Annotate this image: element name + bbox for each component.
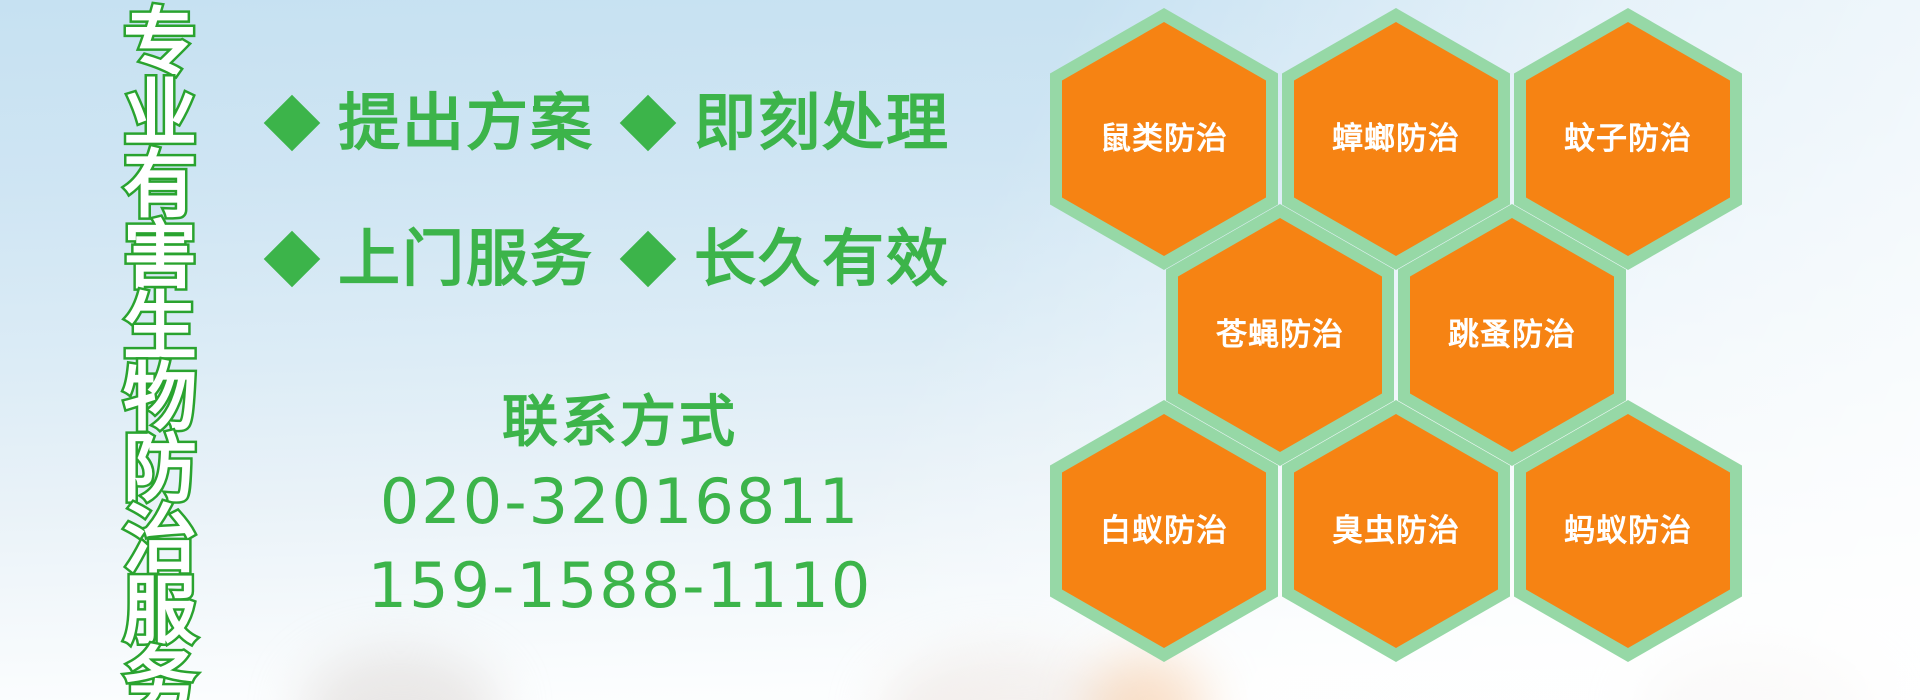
service-label: 苍蝇防治 <box>1216 320 1344 351</box>
service-label: 蚊子防治 <box>1564 124 1692 155</box>
contact-block: 联系方式 020-32016811 159-1588-1110 <box>300 390 940 623</box>
vertical-title-char: 有 <box>123 150 197 221</box>
diamond-bullet-icon <box>264 95 321 152</box>
contact-phone-mobile[interactable]: 159-1588-1110 <box>300 548 940 624</box>
vertical-title-char: 防 <box>123 434 197 505</box>
service-honeycomb: 鼠类防治 蟑螂防治 蚊子防治 苍蝇防治 跳蚤防治 白蚁防治 臭虫防治 <box>1050 0 1850 700</box>
contact-phone-landline[interactable]: 020-32016811 <box>300 464 940 540</box>
feature-row-1: 提出方案 即刻处理 <box>272 92 950 154</box>
vertical-title: 专 业 有 害 生 物 防 治 服 务 <box>108 8 212 698</box>
service-label: 蟑螂防治 <box>1332 124 1460 155</box>
service-label: 鼠类防治 <box>1100 124 1228 155</box>
promo-banner: 专 业 有 害 生 物 防 治 服 务 提出方案 即刻处理 上门服务 长久有效 <box>0 0 1920 700</box>
vertical-title-char: 治 <box>123 505 197 576</box>
vertical-title-char: 服 <box>123 576 197 647</box>
feature-label: 提出方案 <box>338 92 594 154</box>
feature-item: 长久有效 <box>628 228 950 290</box>
vertical-title-char: 害 <box>123 221 197 292</box>
feature-label: 长久有效 <box>694 228 950 290</box>
feature-item: 即刻处理 <box>628 92 950 154</box>
service-label: 蚂蚁防治 <box>1564 516 1692 547</box>
feature-label: 上门服务 <box>338 228 594 290</box>
vertical-title-char: 务 <box>123 647 197 700</box>
service-label: 跳蚤防治 <box>1448 320 1576 351</box>
service-label: 臭虫防治 <box>1332 516 1460 547</box>
feature-item: 提出方案 <box>272 92 594 154</box>
background-blur-blob <box>300 650 500 700</box>
feature-row-2: 上门服务 长久有效 <box>272 228 950 290</box>
vertical-title-char: 专 <box>123 8 197 79</box>
vertical-title-char: 物 <box>123 363 197 434</box>
contact-heading: 联系方式 <box>300 390 940 456</box>
diamond-bullet-icon <box>620 231 677 288</box>
feature-label: 即刻处理 <box>694 92 950 154</box>
vertical-title-char: 业 <box>123 79 197 150</box>
feature-item: 上门服务 <box>272 228 594 290</box>
diamond-bullet-icon <box>620 95 677 152</box>
diamond-bullet-icon <box>264 231 321 288</box>
service-label: 白蚁防治 <box>1100 516 1228 547</box>
vertical-title-char: 生 <box>123 292 197 363</box>
